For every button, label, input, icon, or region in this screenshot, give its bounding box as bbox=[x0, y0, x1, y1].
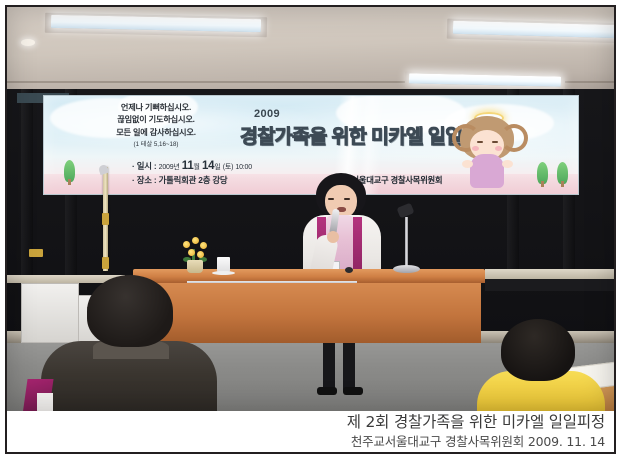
man-head bbox=[87, 275, 173, 347]
angel-mascot-illustration bbox=[450, 110, 524, 190]
audience-man-left bbox=[41, 275, 217, 411]
scarf-stripe bbox=[353, 217, 362, 275]
speaker-eye bbox=[344, 198, 350, 200]
speaker-eye bbox=[328, 198, 334, 200]
banner-scripture-block: 언제나 기뻐하십시오. 끊임없이 기도하십시오. 모든 일에 감사하십시오. (… bbox=[66, 102, 246, 152]
pole-clamp bbox=[102, 257, 109, 269]
place-label: 장소 bbox=[137, 175, 152, 185]
flower-bloom bbox=[183, 241, 190, 248]
framed-photo-card: 언제나 기뻐하십시오. 끊임없이 기도하십시오. 모든 일에 감사하십시오. (… bbox=[0, 0, 621, 459]
banner-info-block: · 일시 : 2009년 11월 14일 (토) 10:00 · 장소 : 가톨… bbox=[132, 160, 252, 187]
banner-date-row: · 일시 : 2009년 11월 14일 (토) 10:00 bbox=[132, 160, 252, 174]
date-day: 14 bbox=[202, 160, 214, 172]
scripture-line-2: 끊임없이 기도하십시오. bbox=[66, 114, 246, 126]
place-value: 가톨릭회관 2층 강당 bbox=[159, 175, 228, 185]
angel-body bbox=[470, 154, 504, 188]
separator-glyph: : bbox=[154, 175, 157, 185]
child-head bbox=[501, 319, 575, 381]
microphone-base bbox=[393, 265, 420, 273]
date-month: 11 bbox=[182, 160, 194, 172]
banner-tree-icon bbox=[537, 162, 548, 184]
speaker-leg bbox=[323, 343, 335, 391]
date-year: 2009년 bbox=[159, 164, 180, 171]
white-cup bbox=[217, 257, 230, 272]
angel-arm bbox=[502, 160, 513, 168]
angel-arm bbox=[462, 160, 473, 168]
photo-frame-border: 언제나 기뻐하십시오. 끊임없이 기도하십시오. 모든 일에 감사하십시오. (… bbox=[5, 5, 616, 454]
angel-cheek bbox=[472, 146, 479, 151]
angel-eye bbox=[492, 141, 498, 143]
banner-tree-icon bbox=[64, 160, 75, 182]
flower-bloom bbox=[197, 251, 204, 258]
date-day-unit: 일 bbox=[214, 164, 220, 171]
caption-title: 제 2회 경찰가족을 위한 미카엘 일일피정 bbox=[7, 412, 605, 433]
angel-eye bbox=[477, 141, 483, 143]
pole-clamp bbox=[29, 249, 43, 257]
flower-pot bbox=[187, 260, 203, 273]
foreground-paper-sliver bbox=[37, 393, 53, 411]
angel-cheek bbox=[495, 146, 502, 151]
desk-object bbox=[345, 267, 353, 273]
flower-bloom bbox=[192, 237, 199, 244]
scripture-line-1: 언제나 기뻐하십시오. bbox=[66, 102, 246, 114]
event-photograph: 언제나 기뻐하십시오. 끊임없이 기도하십시오. 모든 일에 감사하십시오. (… bbox=[7, 7, 614, 411]
date-month-unit: 월 bbox=[194, 164, 200, 171]
ceiling-vent bbox=[21, 39, 35, 46]
photo-caption: 제 2회 경찰가족을 위한 미카엘 일일피정 천주교서울대교구 경찰사목위원회 … bbox=[7, 411, 614, 452]
back-counter-shadow bbox=[485, 279, 614, 291]
shoe bbox=[343, 387, 363, 395]
date-label: 일시 bbox=[137, 161, 152, 171]
shoe bbox=[317, 387, 337, 395]
flower-bloom bbox=[200, 242, 207, 249]
caption-subtitle: 천주교서울대교구 경찰사목위원회 2009. 11. 14 bbox=[7, 433, 605, 451]
separator-glyph: : bbox=[154, 161, 157, 171]
angel-curl bbox=[500, 124, 528, 152]
bullet-glyph: · bbox=[132, 161, 135, 171]
date-weekday: (토) bbox=[223, 164, 234, 171]
pole-clamp bbox=[102, 213, 109, 225]
audience-child-right bbox=[477, 319, 614, 411]
scripture-line-3: 모든 일에 감사하십시오. bbox=[66, 127, 246, 139]
scripture-reference: (1 테살 5,16~18) bbox=[66, 139, 246, 151]
speaker-hand bbox=[327, 231, 339, 243]
microphone-stand bbox=[405, 217, 408, 271]
banner-place-row: · 장소 : 가톨릭회관 2층 강당 bbox=[132, 174, 252, 187]
banner-year: 2009 bbox=[254, 108, 280, 120]
bullet-glyph: · bbox=[132, 175, 135, 185]
flower-bloom bbox=[188, 249, 195, 256]
banner-tree-icon bbox=[557, 162, 568, 184]
back-counter-top bbox=[485, 269, 614, 279]
date-time: 10:00 bbox=[235, 164, 252, 171]
speaker-leg bbox=[343, 343, 355, 391]
speaker-face bbox=[325, 185, 357, 219]
